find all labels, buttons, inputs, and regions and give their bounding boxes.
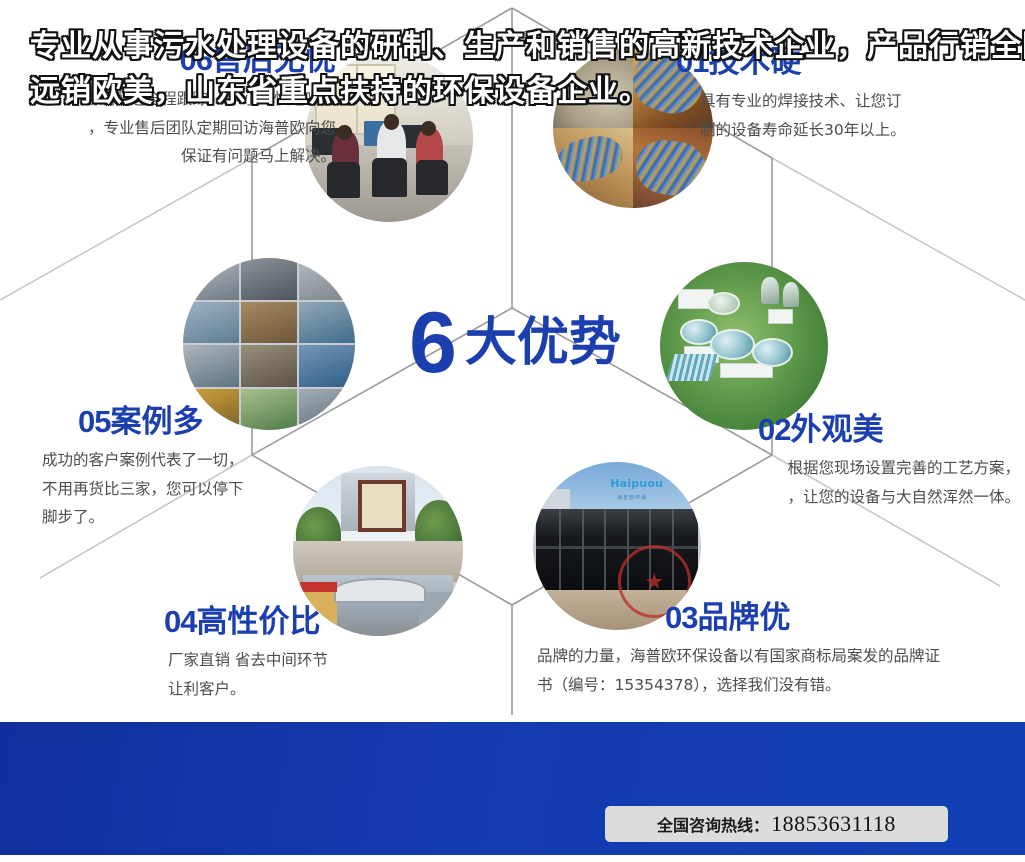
feature-05-line-3: 脚步了。 (42, 503, 364, 532)
banner-line-1: 专业从事污水处理设备的研制、生产和销售的高新技术企业，产品行销全国并 (30, 24, 910, 69)
photo-circle-05-case-collage (183, 258, 355, 430)
feature-03-line-1: 品牌的力量，海普欧环保设备以有国家商标局案发的品牌证 (537, 642, 1007, 671)
feature-05-title: 案例多 (110, 404, 203, 440)
feature-02-title: 外观美 (790, 412, 883, 448)
feature-04-line-2: 让利客户。 (168, 675, 484, 704)
feature-03-title: 品牌优 (697, 600, 790, 636)
equipment-brand-sub: 海普欧环保 (617, 494, 647, 501)
feature-04-number: 04 (164, 604, 196, 639)
hotline-label: 全国咨询热线： (657, 812, 769, 836)
feature-03-line-2: 书（编号：15354378），选择我们没有错。 (537, 671, 1007, 700)
feature-04-line-1: 厂家直销 省去中间环节 (168, 646, 484, 675)
feature-03-number: 03 (665, 600, 697, 635)
feature-item-05: 05案例多 成功的客户案例代表了一切， 不用再货比三家，您可以停下 脚步了。 (34, 406, 364, 532)
feature-06-line-3: 保证有问题马上解决。 (16, 142, 336, 171)
photo-circle-02-aerial-plant (660, 262, 828, 430)
feature-05-line-1: 成功的客户案例代表了一切， (42, 446, 364, 475)
infographic-stage: 6 大优势 (0, 0, 1025, 862)
feature-02-line-2: ，让您的设备与大自然浑然一体。 (700, 483, 1020, 512)
center-title: 6 大优势 (390, 288, 640, 398)
feature-06-line-2: ，专业售后团队定期回访海普欧向您 (16, 114, 336, 143)
banner-line-2: 远销欧美，山东省重点扶持的环保设备企业。 (30, 69, 910, 114)
hotline-box[interactable]: 全国咨询热线： 18853631118 (605, 806, 948, 842)
feature-02-line-1: 根据您现场设置完善的工艺方案， (700, 454, 1020, 483)
feature-item-02: 02外观美 根据您现场设置完善的工艺方案， ，让您的设备与大自然浑然一体。 (700, 414, 1020, 511)
equipment-brand-logo: Haipuou (610, 477, 663, 490)
feature-04-title: 高性价比 (196, 604, 320, 640)
feature-01-line-2: 制的设备寿命延长30年以上。 (700, 116, 1016, 145)
center-number: 6 (409, 300, 455, 386)
feature-item-03: 03品牌优 品牌的力量，海普欧环保设备以有国家商标局案发的品牌证 书（编号：15… (537, 602, 1007, 699)
feature-05-line-2: 不用再货比三家，您可以停下 (42, 475, 364, 504)
feature-05-number: 05 (78, 404, 110, 439)
banner-headline: 专业从事污水处理设备的研制、生产和销售的高新技术企业，产品行销全国并 远销欧美，… (30, 24, 910, 114)
feature-item-04: 04高性价比 厂家直销 省去中间环节 让利客户。 (124, 606, 484, 703)
feature-02-number: 02 (758, 412, 790, 447)
center-label-text: 大优势 (465, 317, 621, 369)
hotline-number: 18853631118 (771, 811, 896, 837)
